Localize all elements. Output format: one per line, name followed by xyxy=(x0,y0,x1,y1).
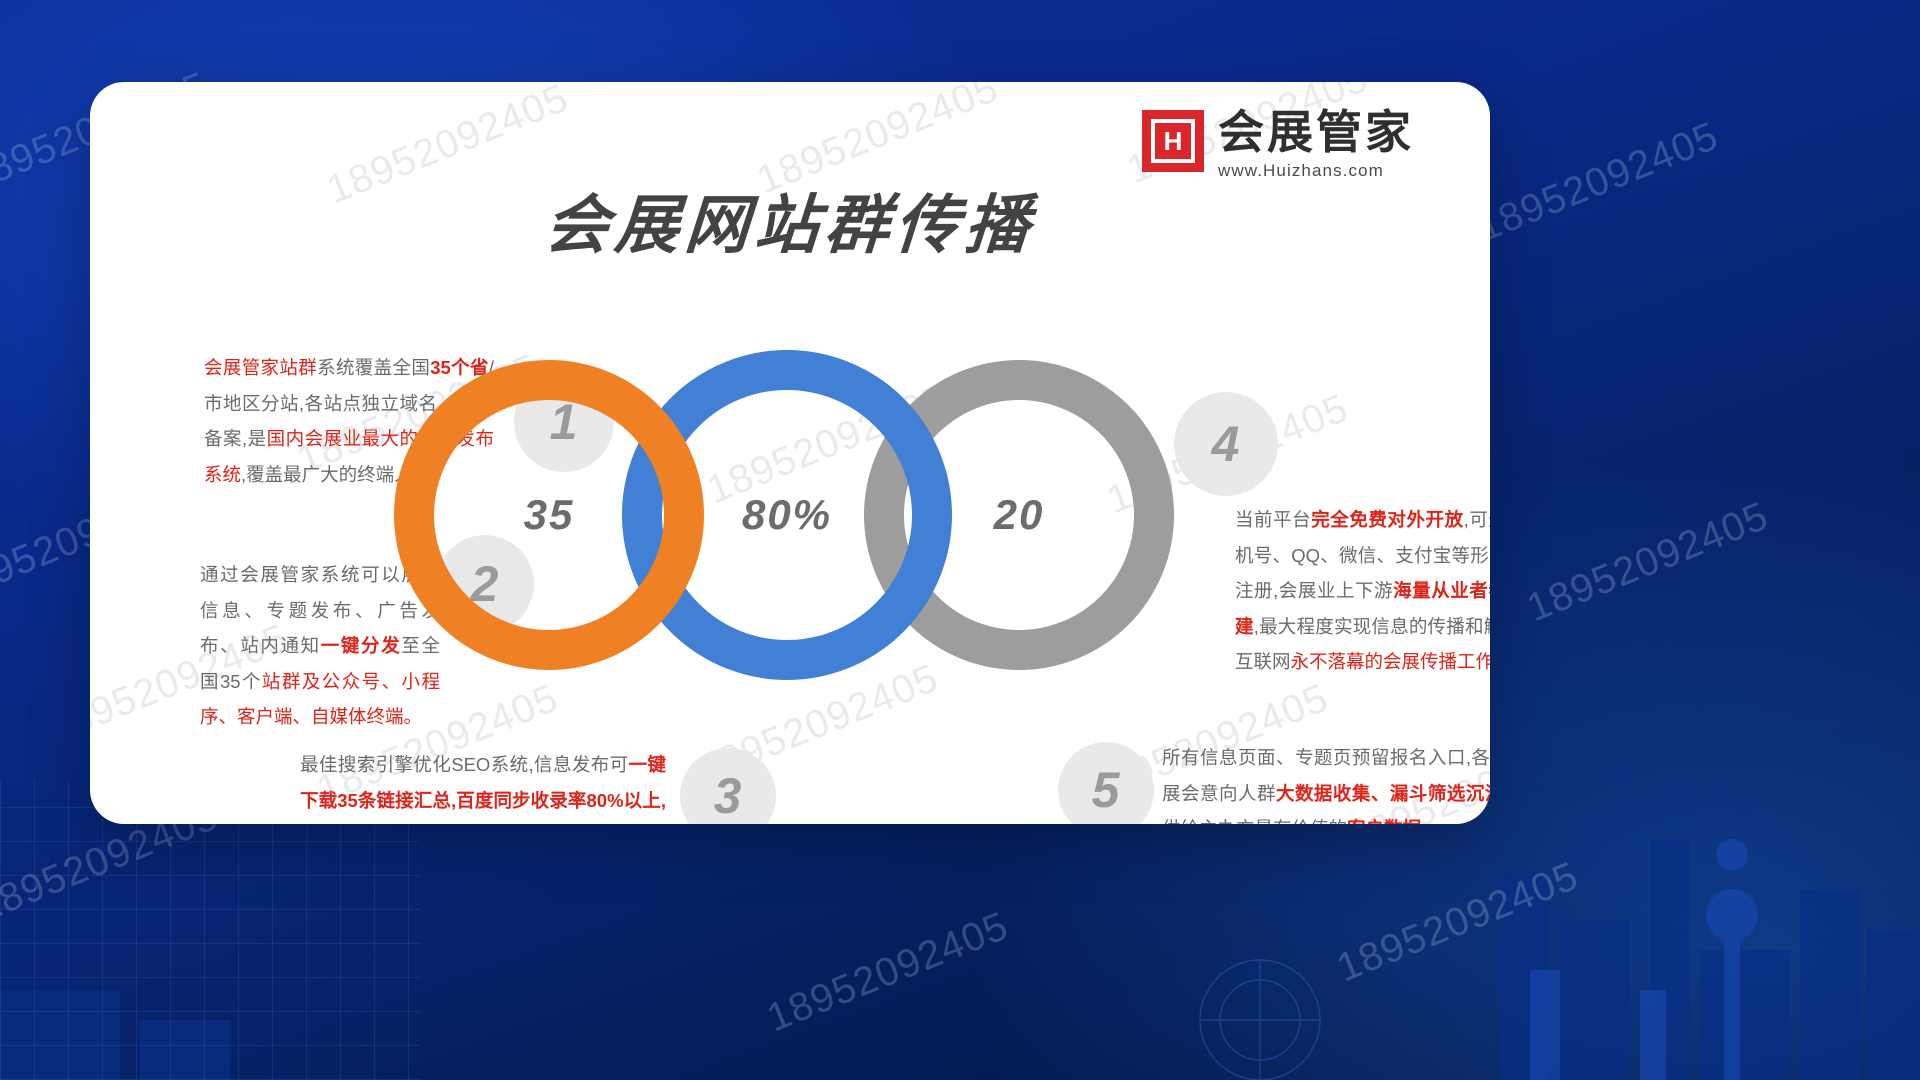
orange-ring: 35 xyxy=(394,360,704,670)
poster-canvas: 18952092405 18952092405 18952092405 1895… xyxy=(0,0,1920,1080)
logo-name: 会展管家 xyxy=(1218,108,1414,156)
page-title: 会展网站群传播 xyxy=(90,190,1490,260)
logo-url: www.Huizhans.com xyxy=(1218,161,1414,181)
watermark: 18952092405 xyxy=(1521,494,1775,632)
gray-ring-label: 20 xyxy=(994,494,1045,536)
description-block-4: 当前平台完全免费对外开放,可通过手机号、QQ、微信、支付宝等形式登录注册,会展业… xyxy=(1235,502,1490,680)
watermark: 18952092405 xyxy=(751,82,1005,203)
orange-ring-label: 35 xyxy=(524,494,575,536)
rings-cluster: 35 20 80% xyxy=(394,350,1194,680)
grid-decoration xyxy=(0,780,420,1080)
watermark: 18952092405 xyxy=(1471,114,1725,252)
logo-text-group: 会展管家 www.Huizhans.com xyxy=(1218,108,1414,182)
bubble-3: 3 xyxy=(680,748,776,824)
watermark: 18952092405 xyxy=(1331,854,1585,992)
description-block-5: 所有信息页面、专题页预留报名入口,各行业展会意向人群大数据收集、漏斗筛选沉淀,提… xyxy=(1162,740,1490,824)
brand-logo[interactable]: 会展管家 www.Huizhans.com xyxy=(1142,108,1414,182)
description-block-2: 通过会展管家系统可以展会信息、专题发布、广告发布、站内通知一键分发至全国35个站… xyxy=(200,557,440,735)
watermark: 18952092405 xyxy=(761,904,1015,1042)
bubble-5: 5 xyxy=(1058,742,1154,824)
blue-ring-label: 80% xyxy=(742,494,832,536)
content-card: 18952092405 18952092405 18952092405 1895… xyxy=(90,82,1490,824)
bubble-4: 4 xyxy=(1174,392,1278,496)
logo-mark-icon xyxy=(1142,110,1204,172)
description-block-3: 最佳搜索引擎优化SEO系统,信息发布可一键下载35条链接汇总,百度同步收录率80… xyxy=(300,747,666,824)
